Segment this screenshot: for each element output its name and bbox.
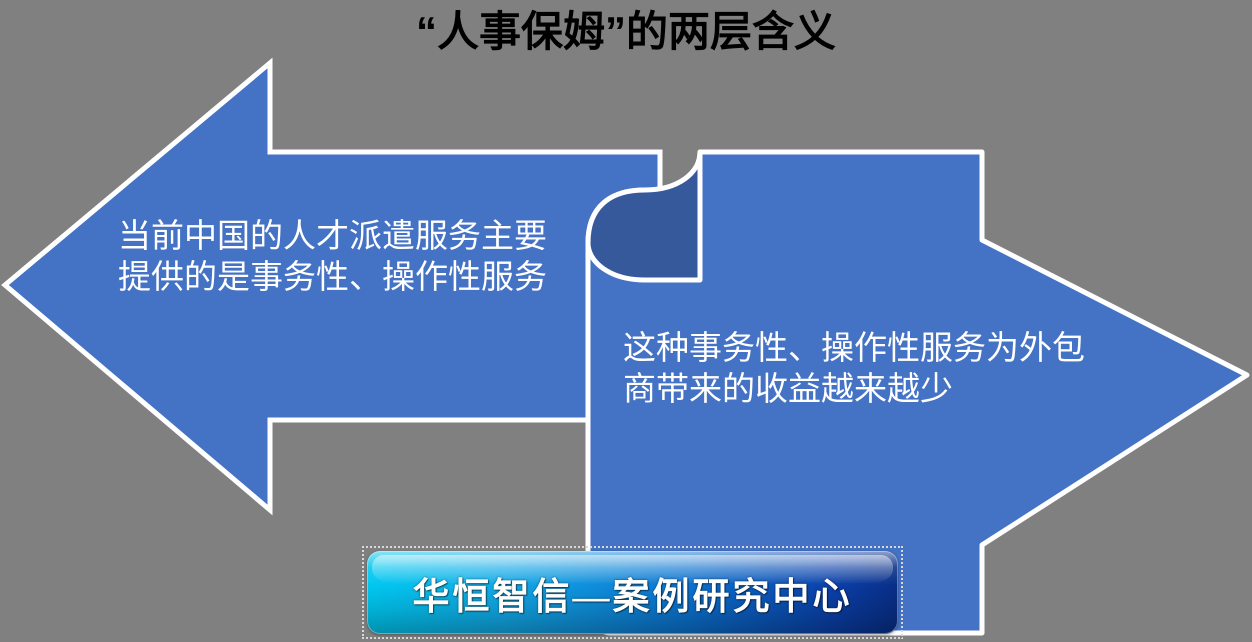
left-arrow-label: 当前中国的人才派遣服务主要提供的是事务性、操作性服务 bbox=[118, 215, 570, 297]
footer-badge-selection-frame[interactable]: 华恒智信—案例研究中心 bbox=[362, 546, 903, 639]
footer-badge-label: 华恒智信—案例研究中心 bbox=[367, 551, 898, 634]
right-arrow-label: 这种事务性、操作性服务为外包商带来的收益越来越少 bbox=[623, 327, 1093, 409]
footer-badge[interactable]: 华恒智信—案例研究中心 bbox=[367, 551, 898, 634]
slide-canvas: “人事保姆”的两层含义 当前中国的人才派遣服务主要提供的是事务性、操作性服务 这… bbox=[0, 0, 1252, 642]
